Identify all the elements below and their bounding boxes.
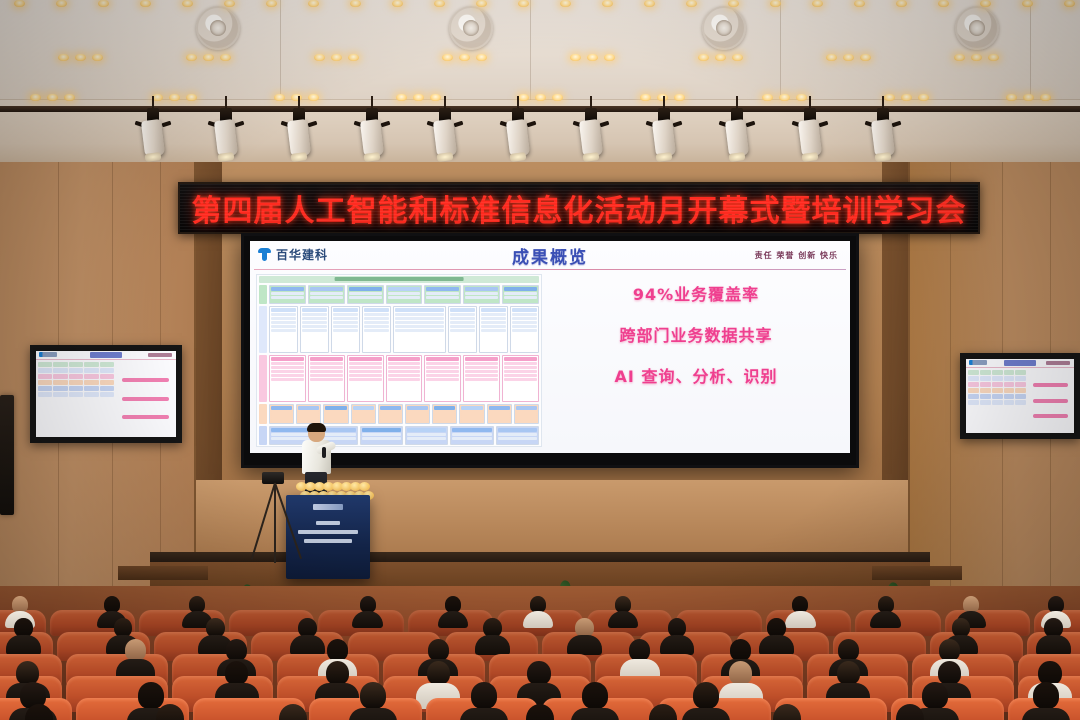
ceiling-downlight [308, 0, 319, 7]
stage-spotlight [799, 108, 821, 164]
led-banner: 第四届人工智能和标准信息化活动月开幕式暨培训学习会 [178, 182, 980, 234]
audience-shoulders [759, 635, 794, 655]
audience-shoulders [290, 635, 325, 655]
slide-title: 成果概览 [512, 243, 588, 268]
hvac-diffuser [449, 6, 493, 50]
slide-slogan: 责任 荣誉 创新 快乐 [755, 250, 838, 261]
ceiling-downlight [686, 0, 697, 7]
ceiling-downlight [796, 94, 807, 101]
ceiling-downlight [644, 0, 655, 7]
ceiling-downlight [203, 54, 214, 61]
audience-shoulders [660, 635, 695, 655]
audience-shoulders [349, 708, 398, 720]
slide-point-3: AI 查询、分析、识别 [615, 363, 778, 387]
ceiling-downlight [182, 0, 193, 7]
audience-shoulders [1036, 635, 1071, 655]
ceiling-downlight [413, 94, 424, 101]
ceiling-downlight [58, 54, 69, 61]
podium-logo-icon [313, 504, 343, 510]
audience-area [0, 586, 1080, 720]
audience-shoulders [6, 635, 41, 655]
ceiling-downlight [884, 94, 895, 101]
ceiling-downlight [938, 0, 949, 7]
ceiling-downlight [140, 0, 151, 7]
ceiling-downlight [901, 94, 912, 101]
ceiling-downlight [732, 54, 743, 61]
ceiling-downlight [918, 94, 929, 101]
audience-member [939, 639, 960, 661]
architecture-diagram [256, 274, 542, 447]
audience-member [427, 661, 450, 685]
audience-shoulders [460, 708, 509, 720]
audience-member [629, 639, 650, 661]
building-logo-icon [257, 247, 272, 262]
audience-shoulders [1022, 708, 1071, 720]
audience-member [922, 682, 948, 709]
ceiling-downlight [770, 0, 781, 7]
ceiling-downlight [518, 94, 529, 101]
audience-member [837, 661, 860, 685]
audience-shoulders [475, 635, 510, 655]
banner-text: 第四届人工智能和标准信息化活动月开幕式暨培训学习会 [192, 186, 967, 230]
slide-point-2: 跨部门业务数据共享 [619, 322, 772, 346]
stage-step-right [872, 566, 962, 580]
ceiling-downlight [169, 94, 180, 101]
diagram-layer [257, 403, 541, 425]
ceiling-downlight [1023, 94, 1034, 101]
ceiling-downlight [396, 94, 407, 101]
ceiling-downlight [779, 94, 790, 101]
speaker-column-left [0, 395, 14, 515]
stage-spotlight [288, 108, 310, 164]
ceiling-downlight [843, 54, 854, 61]
ceiling-downlight [56, 0, 67, 7]
ceiling-downlight [220, 54, 231, 61]
ceiling-downlight [674, 94, 685, 101]
ceiling-downlight [392, 0, 403, 7]
ceiling-downlight [560, 0, 571, 7]
ceiling-downlight [971, 54, 982, 61]
ceiling-downlight [854, 0, 865, 7]
slide-header: 百华建科 成果概览 责任 荣誉 创新 快乐 [250, 241, 850, 271]
slide-point-1: 94%业务覆盖率 [633, 281, 759, 305]
audience-member [326, 661, 349, 685]
auditorium-photo: 第四届人工智能和标准信息化活动月开幕式暨培训学习会 百华建科 成果概览 责任 荣… [0, 0, 1080, 720]
audience-shoulders [682, 708, 731, 720]
audience-member [225, 661, 248, 685]
presentation-slide: 百华建科 成果概览 责任 荣誉 创新 快乐 94%业务覆盖率 跨部门业务数据共享… [250, 241, 850, 453]
ceiling-downlight [314, 54, 325, 61]
flower [359, 482, 370, 491]
ceiling-downlight [14, 0, 25, 7]
audience-shoulders [571, 708, 620, 720]
camera-tripod [252, 472, 298, 564]
ceiling-downlight [812, 0, 823, 7]
ceiling-downlight [348, 54, 359, 61]
audience-member [327, 639, 348, 661]
ceiling-downlight [47, 94, 58, 101]
stage-spotlight [434, 108, 456, 164]
audience-member [428, 639, 449, 661]
ceiling-downlight [476, 0, 487, 7]
header-divider [254, 269, 846, 270]
hvac-diffuser [196, 6, 240, 50]
stage-spotlight [142, 108, 164, 164]
side-monitor-left [30, 345, 182, 443]
stage-spotlight [507, 108, 529, 164]
diagram-layer [257, 354, 541, 403]
ceiling-downlight [92, 54, 103, 61]
ceiling-downlight [826, 54, 837, 61]
ceiling-downlight [274, 94, 285, 101]
ceiling-downlight [587, 54, 598, 61]
stage-spotlight [580, 108, 602, 164]
diagram-layer [257, 284, 541, 305]
ceiling-downlight [1064, 0, 1075, 7]
ceiling-downlight [1006, 94, 1017, 101]
audience-member [527, 661, 550, 685]
ceiling-downlight [98, 0, 109, 7]
ceiling-downlight [331, 54, 342, 61]
audience-member [729, 661, 752, 685]
ceiling-downlight [698, 54, 709, 61]
ceiling-downlight [434, 0, 445, 7]
audience-member [138, 682, 164, 709]
ceiling-downlight [30, 94, 41, 101]
stage-step-left [118, 566, 208, 580]
audience-member [125, 639, 146, 661]
ceiling-downlight [1022, 0, 1033, 7]
audience-shoulders [567, 635, 602, 655]
company-logo: 百华建科 [257, 246, 328, 263]
ceiling-downlight [715, 54, 726, 61]
ceiling-downlight [728, 0, 739, 7]
ceiling-downlight [476, 54, 487, 61]
ceiling-downlight [224, 0, 235, 7]
audience-member [360, 682, 386, 709]
ceiling-downlight [640, 94, 651, 101]
ceiling-downlight [291, 94, 302, 101]
diagram-caption [259, 276, 539, 283]
ceiling-downlight [64, 94, 75, 101]
ceiling-downlight [762, 94, 773, 101]
ceiling-downlight [535, 94, 546, 101]
side-monitor-right [960, 353, 1080, 439]
diagram-layer [257, 305, 541, 354]
hvac-diffuser [955, 6, 999, 50]
audience-member [226, 639, 247, 661]
stage-spotlight [653, 108, 675, 164]
ceiling-downlight [980, 0, 991, 7]
hvac-diffuser [702, 6, 746, 50]
podium [286, 495, 370, 579]
audience-member [693, 682, 719, 709]
slide-key-points: 94%业务覆盖率 跨部门业务数据共享 AI 查询、分析、识别 [550, 281, 842, 387]
ceiling-downlight [430, 94, 441, 101]
stage-spotlight [361, 108, 383, 164]
ceiling-downlight [350, 0, 361, 7]
ceiling-downlight [186, 94, 197, 101]
ceiling-downlight [988, 54, 999, 61]
ceiling-downlight [518, 0, 529, 7]
company-name: 百华建科 [276, 246, 328, 263]
audience-member [838, 639, 859, 661]
podium-text-block [294, 521, 362, 543]
ceiling-downlight [266, 0, 277, 7]
stage-spotlight [215, 108, 237, 164]
ceiling-downlight [186, 54, 197, 61]
ceiling-downlight [442, 54, 453, 61]
audience-member [471, 682, 497, 709]
ceiling-downlight [308, 94, 319, 101]
ceiling-downlight [860, 54, 871, 61]
audience-member [730, 639, 751, 661]
ceiling-downlight [75, 54, 86, 61]
ceiling-downlight [552, 94, 563, 101]
ceiling-downlight [602, 0, 613, 7]
ceiling-downlight [570, 54, 581, 61]
stage-spotlight [872, 108, 894, 164]
ceiling [0, 0, 1080, 100]
ceiling-downlight [459, 54, 470, 61]
audience-shoulders [785, 611, 815, 629]
ceiling-downlight [896, 0, 907, 7]
audience-member [582, 682, 608, 709]
ceiling-downlight [1040, 94, 1051, 101]
stage-spotlight [726, 108, 748, 164]
ceiling-downlight [954, 54, 965, 61]
audience-member [938, 661, 961, 685]
ceiling-downlight [604, 54, 615, 61]
audience-member [1033, 682, 1059, 709]
